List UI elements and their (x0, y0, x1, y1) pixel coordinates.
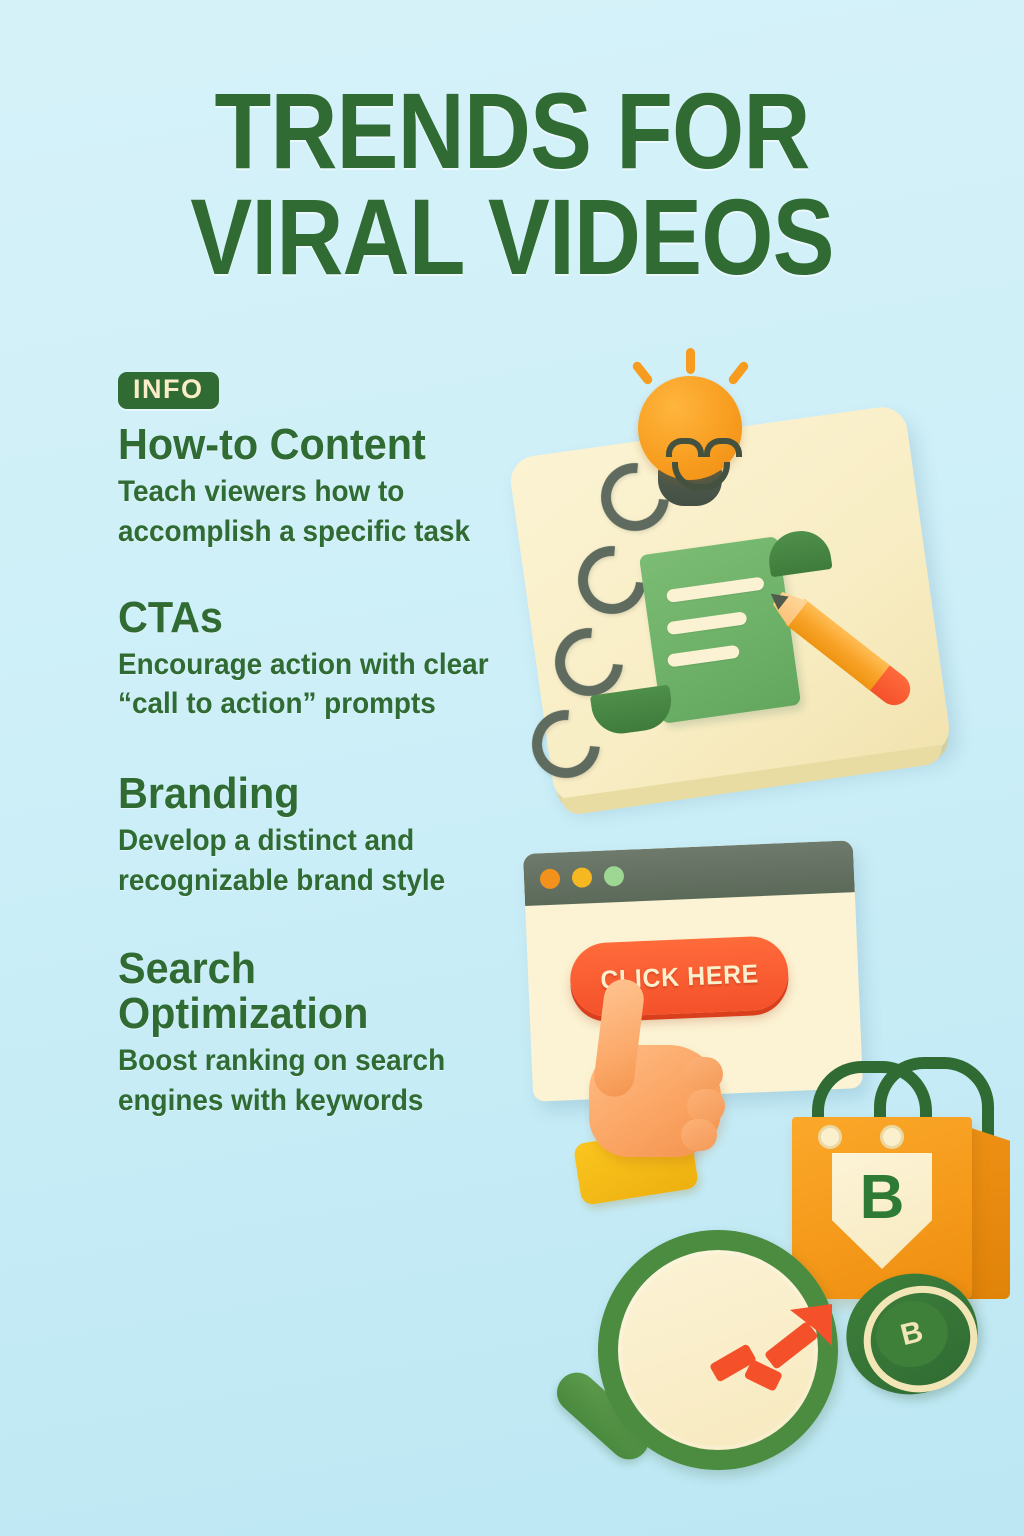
magnifier-lens (598, 1230, 838, 1470)
title-line-1: TRENDS FOR (72, 78, 953, 184)
hand-knuckle (683, 1057, 723, 1091)
smiley-eye-icon (666, 438, 704, 457)
section-heading: How-to Content (118, 423, 513, 468)
light-ray-icon (631, 360, 654, 386)
info-badge: INFO (118, 372, 219, 409)
section-description: Teach viewers how to accomplish a specif… (118, 472, 509, 552)
trend-arrow-icon (714, 1308, 832, 1394)
light-ray-icon (727, 360, 750, 386)
window-dot-orange-icon (540, 868, 561, 889)
hand-knuckle (687, 1089, 725, 1123)
light-ray-icon (686, 348, 695, 374)
section-ctas: CTAs Encourage action with clear “call t… (118, 596, 538, 725)
shield-letter: B (860, 1167, 905, 1229)
section-heading: CTAs (118, 596, 513, 641)
title-line-2: VIRAL VIDEOS (72, 184, 953, 290)
scroll-text-line (667, 645, 740, 668)
bag-eyelet (880, 1125, 904, 1149)
infographic-poster: TRENDS FOR VIRAL VIDEOS INFO How-to Cont… (0, 0, 1024, 1536)
section-description: Encourage action with clear “call to act… (118, 645, 509, 725)
section-search-optimization: Search Optimization Boost ranking on sea… (118, 947, 538, 1121)
lightbulb-glass (638, 376, 742, 480)
window-dot-yellow-icon (572, 867, 593, 888)
section-heading: Search Optimization (118, 947, 513, 1037)
seal-letter: B (898, 1317, 926, 1351)
hand-knuckle (681, 1119, 717, 1151)
pointing-hand-icon (565, 985, 755, 1210)
trend-arrow-segment (764, 1321, 819, 1370)
notebook-illustration (505, 330, 1005, 850)
scroll-text-line (666, 611, 747, 635)
section-how-to-content: How-to Content Teach viewers how to acco… (118, 423, 538, 552)
seal-outer-ring: B (833, 1260, 990, 1408)
section-heading: Branding (118, 772, 513, 817)
page-title: TRENDS FOR VIRAL VIDEOS (0, 78, 1024, 290)
window-dot-green-icon (604, 866, 625, 887)
document-scroll-icon (639, 536, 801, 724)
browser-title-bar (523, 840, 855, 906)
scroll-text-line (666, 576, 765, 603)
bag-eyelet (818, 1125, 842, 1149)
section-description: Develop a distinct and recognizable bran… (118, 821, 509, 901)
lightbulb-icon (630, 348, 750, 508)
content-column: INFO How-to Content Teach viewers how to… (118, 372, 538, 1121)
brand-seal-badge: B (846, 1262, 996, 1412)
section-description: Boost ranking on search engines with key… (118, 1041, 509, 1121)
magnifying-glass-icon (542, 1230, 842, 1520)
smiley-eye-icon (704, 438, 742, 457)
section-branding: Branding Develop a distinct and recogniz… (118, 772, 538, 901)
